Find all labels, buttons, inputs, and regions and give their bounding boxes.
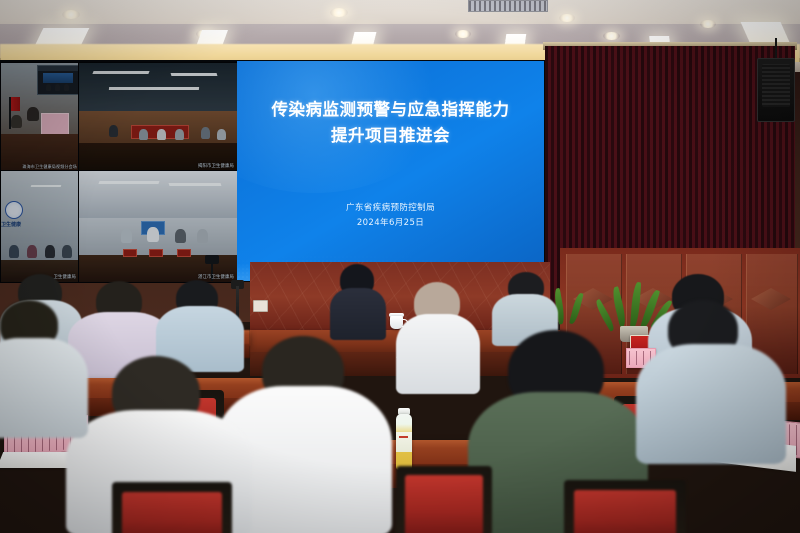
- remote-attendee: [175, 229, 186, 243]
- downlight-icon: [603, 32, 620, 40]
- attendee-torso: [330, 288, 386, 340]
- remote-attendee: [11, 115, 22, 128]
- remote-attendee: [27, 245, 37, 258]
- attendee-torso: [396, 314, 480, 394]
- chair-cushion: [122, 492, 222, 533]
- remote-attendee: [121, 229, 132, 243]
- remote-attendee: [147, 227, 159, 242]
- plant-leaf: [630, 282, 641, 328]
- remote-banner: [41, 113, 69, 135]
- remote-attendee: [157, 129, 166, 140]
- pip-attendee: [55, 84, 60, 91]
- video-cell-top-left: 珠海市卫生健康局视频分会场: [0, 62, 80, 172]
- plant-leaf: [610, 286, 627, 327]
- remote-ceiling-light: [92, 71, 149, 74]
- downlight-icon: [559, 14, 575, 22]
- downlight-icon: [62, 10, 80, 19]
- remote-attendee: [45, 245, 55, 258]
- pip-titlebar: [38, 66, 78, 71]
- video-cell-bottom-right: 湛江市卫生健康局: [78, 170, 238, 283]
- video-cell-bottom-left: 卫生健康 卫生健康局: [0, 170, 80, 283]
- remote-attendee: [109, 125, 118, 137]
- picture-in-picture-inset: [37, 65, 79, 95]
- video-cell-label: 湛江市卫生健康局: [198, 274, 234, 280]
- speaker-cable: [775, 38, 777, 60]
- remote-attendee: [62, 245, 72, 258]
- remote-attendee: [197, 229, 208, 243]
- slide-title-line2: 提升项目推进会: [237, 123, 544, 149]
- emblem-label: 卫生健康: [1, 221, 21, 228]
- remote-attendee: [175, 129, 184, 140]
- remote-placard: [123, 249, 137, 257]
- national-flag-icon: [10, 97, 20, 111]
- remote-ceiling-light: [109, 87, 199, 90]
- slide-subtitle: 广东省疾病预防控制局 2024年6月25日: [237, 201, 544, 231]
- downlight-icon: [700, 20, 716, 28]
- remote-ceiling: [79, 171, 237, 220]
- bottle-label-mark: [399, 436, 408, 438]
- air-vent-icon: [468, 0, 548, 12]
- health-commission-emblem-icon: [5, 201, 23, 219]
- remote-attendee: [139, 129, 148, 140]
- remote-ceiling-light: [31, 185, 62, 187]
- video-cell-top-right: 揭阳市卫生健康局: [78, 62, 238, 172]
- chair-foreground-right: [396, 466, 492, 533]
- slide-date: 2024年6月25日: [237, 216, 544, 231]
- slide-title: 传染病监测预警与应急指挥能力 提升项目推进会: [237, 97, 544, 149]
- video-cell-label: 卫生健康局: [54, 274, 76, 280]
- downlight-icon: [330, 8, 348, 17]
- remote-placard: [149, 249, 163, 257]
- video-cell-label: 揭阳市卫生健康局: [198, 163, 234, 169]
- attendee-torso: [636, 344, 786, 464]
- remote-attendee: [217, 129, 226, 140]
- bottle-label: [396, 432, 412, 452]
- plant-leaf: [569, 292, 584, 325]
- pip-attendee: [46, 84, 51, 91]
- remote-ceiling-light: [169, 183, 222, 186]
- pip-attendee: [64, 84, 69, 91]
- remote-attendee: [9, 245, 19, 258]
- remote-attendee: [27, 107, 39, 121]
- remote-ceiling-light: [171, 73, 218, 76]
- remote-placard: [177, 249, 191, 257]
- chair-foreground-center: [564, 480, 686, 533]
- panel-light-icon: [741, 22, 790, 42]
- tea-bottle: [396, 414, 412, 470]
- wall-outlet: [253, 300, 268, 312]
- downlight-icon: [455, 30, 471, 38]
- conference-room-photo: 珠海市卫生健康局视频分会场 揭阳市卫生健康局 卫生健康: [0, 0, 800, 533]
- attendee-torso: [0, 338, 88, 438]
- video-wall-grid: 珠海市卫生健康局视频分会场 揭阳市卫生健康局 卫生健康: [0, 62, 236, 281]
- slide-organization: 广东省疾病预防控制局: [237, 201, 544, 216]
- remote-attendee: [201, 127, 210, 139]
- chair-foreground-left: [112, 482, 232, 533]
- chair-cushion: [574, 490, 676, 533]
- wall-speaker: [757, 58, 795, 122]
- slide-title-line1: 传染病监测预警与应急指挥能力: [237, 97, 544, 123]
- chair-cushion: [405, 475, 483, 533]
- remote-ceiling-light: [98, 181, 159, 184]
- pip-screen: [43, 73, 73, 83]
- presentation-slide: 传染病监测预警与应急指挥能力 提升项目推进会 广东省疾病预防控制局 2024年6…: [237, 61, 544, 281]
